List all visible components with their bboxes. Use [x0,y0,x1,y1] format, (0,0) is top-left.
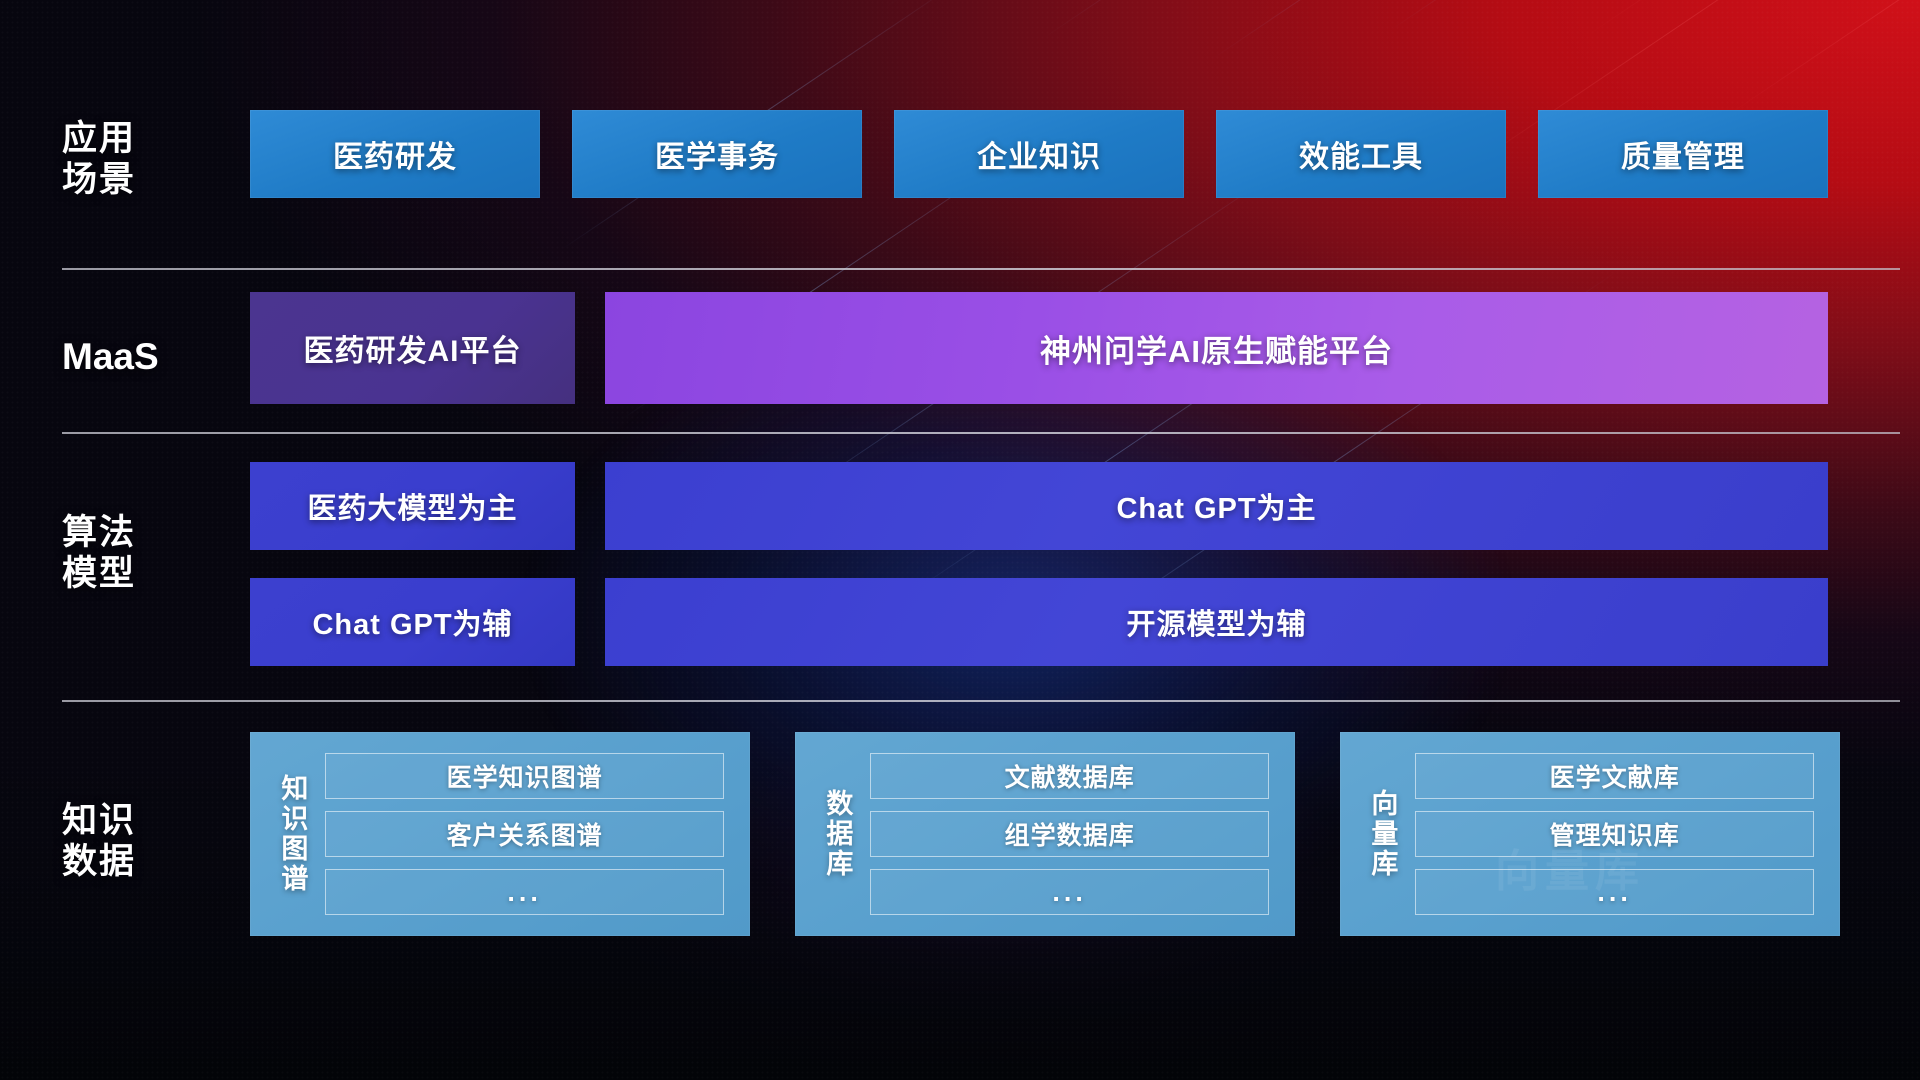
row-label-algorithm-model: 算法 模型 [62,512,212,595]
knowledge-group-graph-items: 医学知识图谱客户关系图谱... [325,753,750,915]
knowledge-group-database[interactable]: 数据库文献数据库组学数据库... [795,732,1295,936]
maas-platform-card-medical-label: 医药研发AI平台 [304,326,522,370]
algorithm-card-opensource-secondary[interactable]: 开源模型为辅 [605,578,1828,666]
knowledge-group-database-items: 文献数据库组学数据库... [870,753,1295,915]
diagram-canvas: 应用 场景医药研发医学事务企业知识效能工具质量管理MaaS医药研发AI平台神州问… [0,0,1920,1080]
diagram-content: 应用 场景医药研发医学事务企业知识效能工具质量管理MaaS医药研发AI平台神州问… [0,0,1920,1080]
row-label-knowledge-data: 知识 数据 [62,800,212,883]
algorithm-card-medical-primary[interactable]: 医药大模型为主 [250,462,575,550]
divider-maas-algorithm [62,432,1900,434]
knowledge-group-database-item-1[interactable]: 文献数据库 [870,753,1269,799]
app-scenario-card-3[interactable]: 企业知识 [894,110,1184,198]
knowledge-group-graph[interactable]: 知识图谱医学知识图谱客户关系图谱... [250,732,750,936]
knowledge-group-graph-item-2[interactable]: 客户关系图谱 [325,811,724,857]
knowledge-group-database-title: 数据库 [821,789,852,879]
knowledge-group-graph-title: 知识图谱 [276,774,307,894]
app-scenario-card-2[interactable]: 医学事务 [572,110,862,198]
algorithm-card-chatgpt-secondary[interactable]: Chat GPT为辅 [250,578,575,666]
knowledge-group-vector-items: 医学文献库管理知识库... [1415,753,1840,915]
app-scenario-card-label: 效能工具 [1299,132,1423,176]
divider-algorithm-knowledge [62,700,1900,702]
knowledge-group-vector-item-1[interactable]: 医学文献库 [1415,753,1814,799]
app-scenario-card-label: 医药研发 [333,132,457,176]
divider-application-maas [62,268,1900,270]
algorithm-card-medical-primary-label: 医药大模型为主 [307,485,517,527]
app-scenario-card-1[interactable]: 医药研发 [250,110,540,198]
knowledge-group-vector[interactable]: 向量库医学文献库管理知识库... [1340,732,1840,936]
algorithm-card-chatgpt-primary[interactable]: Chat GPT为主 [605,462,1828,550]
maas-platform-card-medical[interactable]: 医药研发AI平台 [250,292,575,404]
knowledge-group-graph-item-3[interactable]: ... [325,869,724,915]
knowledge-group-vector-item-2[interactable]: 管理知识库 [1415,811,1814,857]
app-scenario-card-5[interactable]: 质量管理 [1538,110,1828,198]
knowledge-group-graph-item-1[interactable]: 医学知识图谱 [325,753,724,799]
knowledge-group-vector-item-3[interactable]: ... [1415,869,1814,915]
app-scenario-card-label: 质量管理 [1621,132,1745,176]
knowledge-group-database-item-3[interactable]: ... [870,869,1269,915]
row-label-maas: MaaS [62,335,212,379]
row-label-application-scenario: 应用 场景 [62,118,212,201]
maas-platform-card-shenzhou[interactable]: 神州问学AI原生赋能平台 [605,292,1828,404]
maas-platform-card-shenzhou-label: 神州问学AI原生赋能平台 [1040,326,1393,371]
app-scenario-card-label: 医学事务 [655,132,779,176]
algorithm-card-opensource-secondary-label: 开源模型为辅 [1126,601,1306,643]
algorithm-card-chatgpt-primary-label: Chat GPT为主 [1116,485,1316,527]
app-scenario-card-4[interactable]: 效能工具 [1216,110,1506,198]
algorithm-card-chatgpt-secondary-label: Chat GPT为辅 [312,601,512,643]
knowledge-group-vector-title: 向量库 [1366,789,1397,879]
app-scenario-card-label: 企业知识 [977,132,1101,176]
knowledge-group-database-item-2[interactable]: 组学数据库 [870,811,1269,857]
